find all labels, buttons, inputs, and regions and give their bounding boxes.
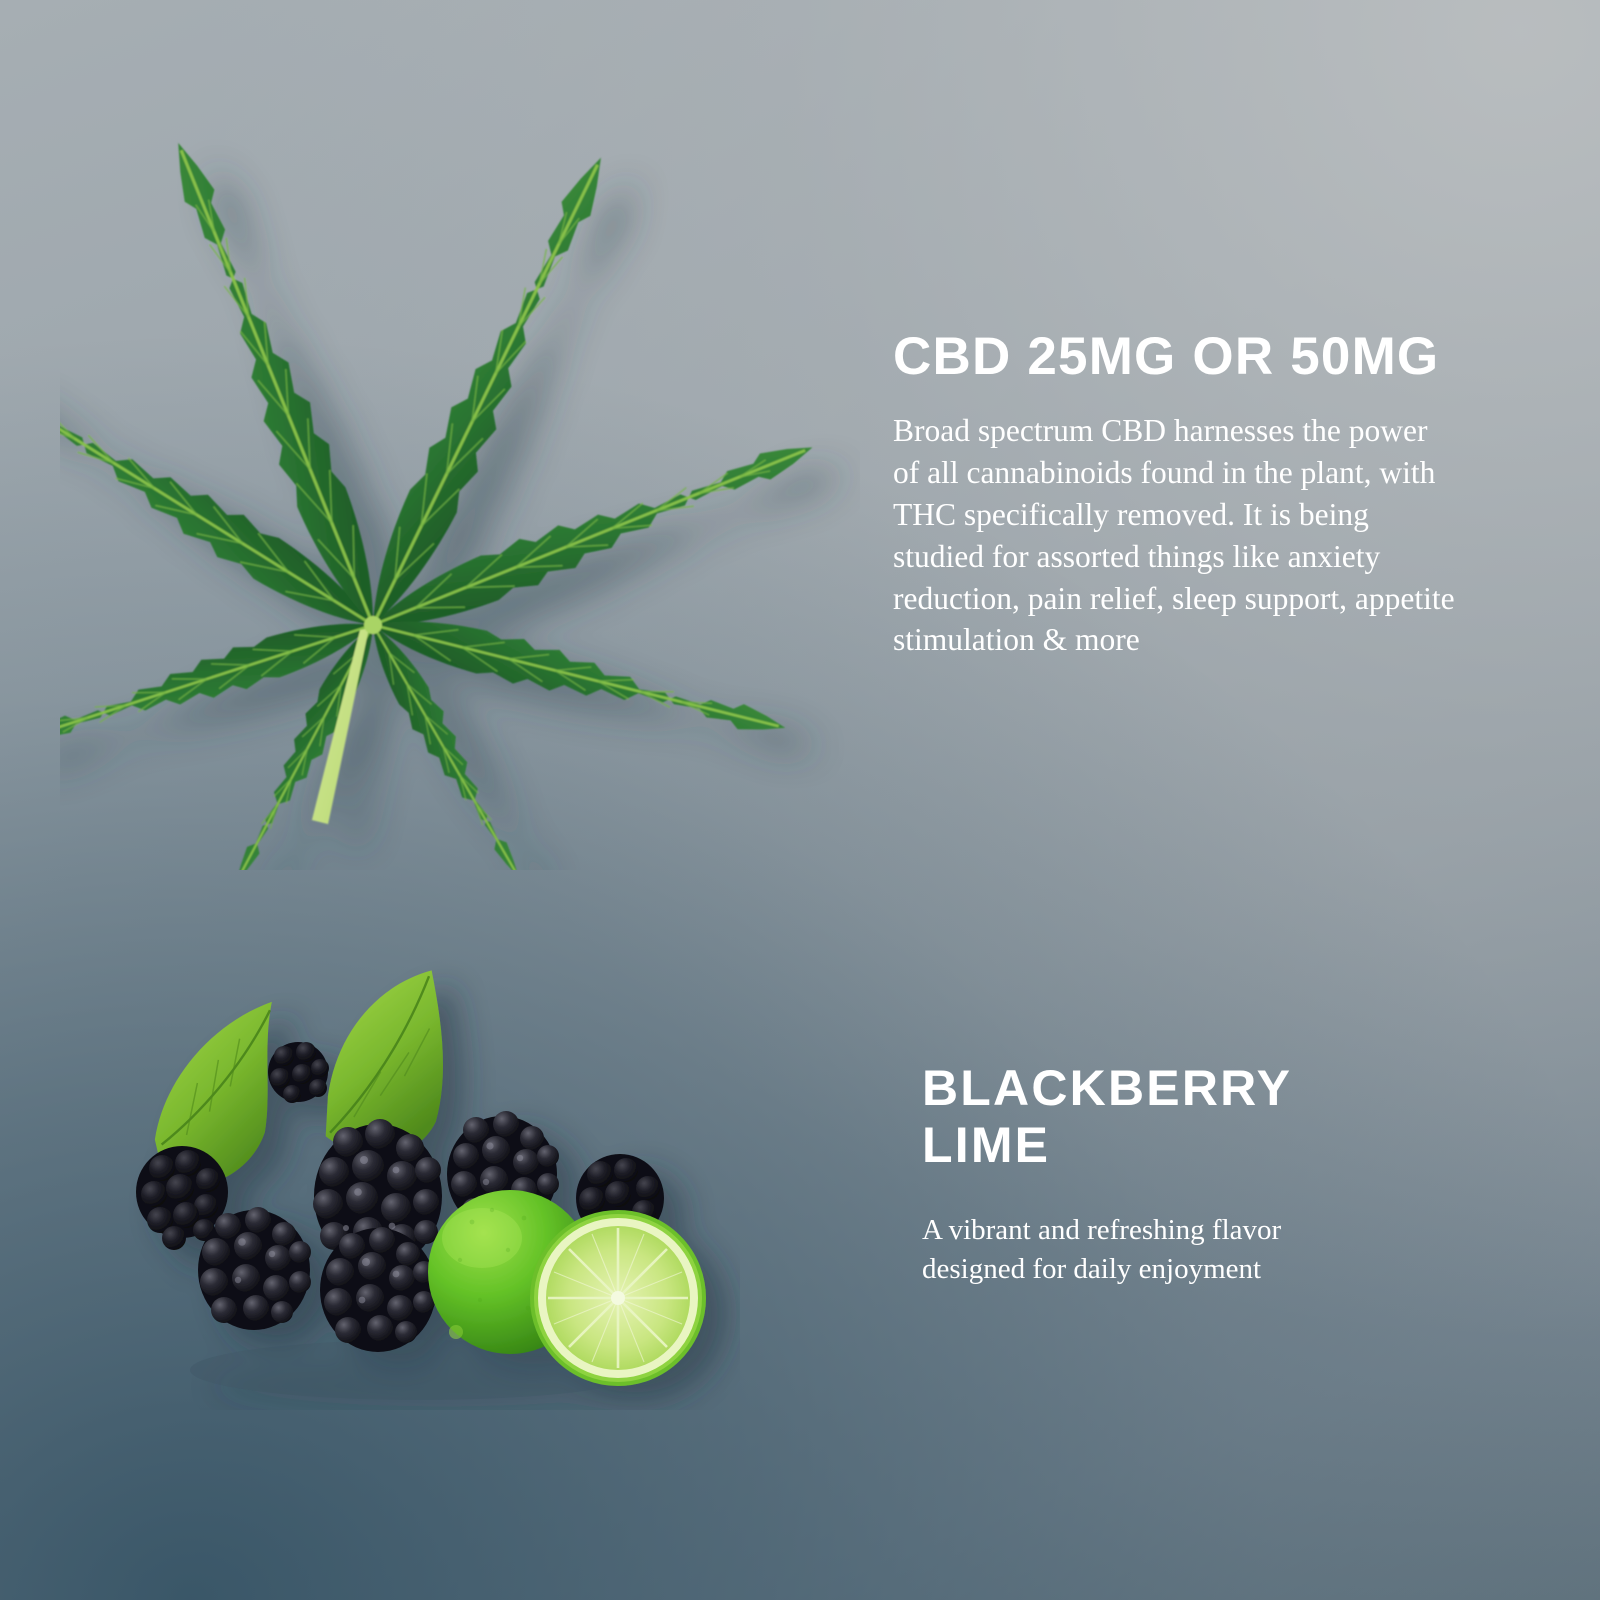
cbd-description: Broad spectrum CBD harnesses the power o…	[893, 383, 1459, 661]
flavor-description: A vibrant and refreshing flavor designed…	[922, 1174, 1402, 1288]
product-feature-panel: CBD 25MG OR 50MG Broad spectrum CBD harn…	[0, 0, 1600, 1600]
flavor-heading: BLACKBERRY LIME	[922, 1060, 1482, 1174]
cbd-info-section: CBD 25MG OR 50MG Broad spectrum CBD harn…	[893, 330, 1493, 661]
flavor-info-section: BLACKBERRY LIME A vibrant and refreshing…	[922, 1060, 1482, 1288]
cannabis-leaf-photo	[60, 130, 860, 870]
cbd-heading: CBD 25MG OR 50MG	[893, 330, 1493, 383]
blackberry-lime-photo	[120, 960, 740, 1410]
